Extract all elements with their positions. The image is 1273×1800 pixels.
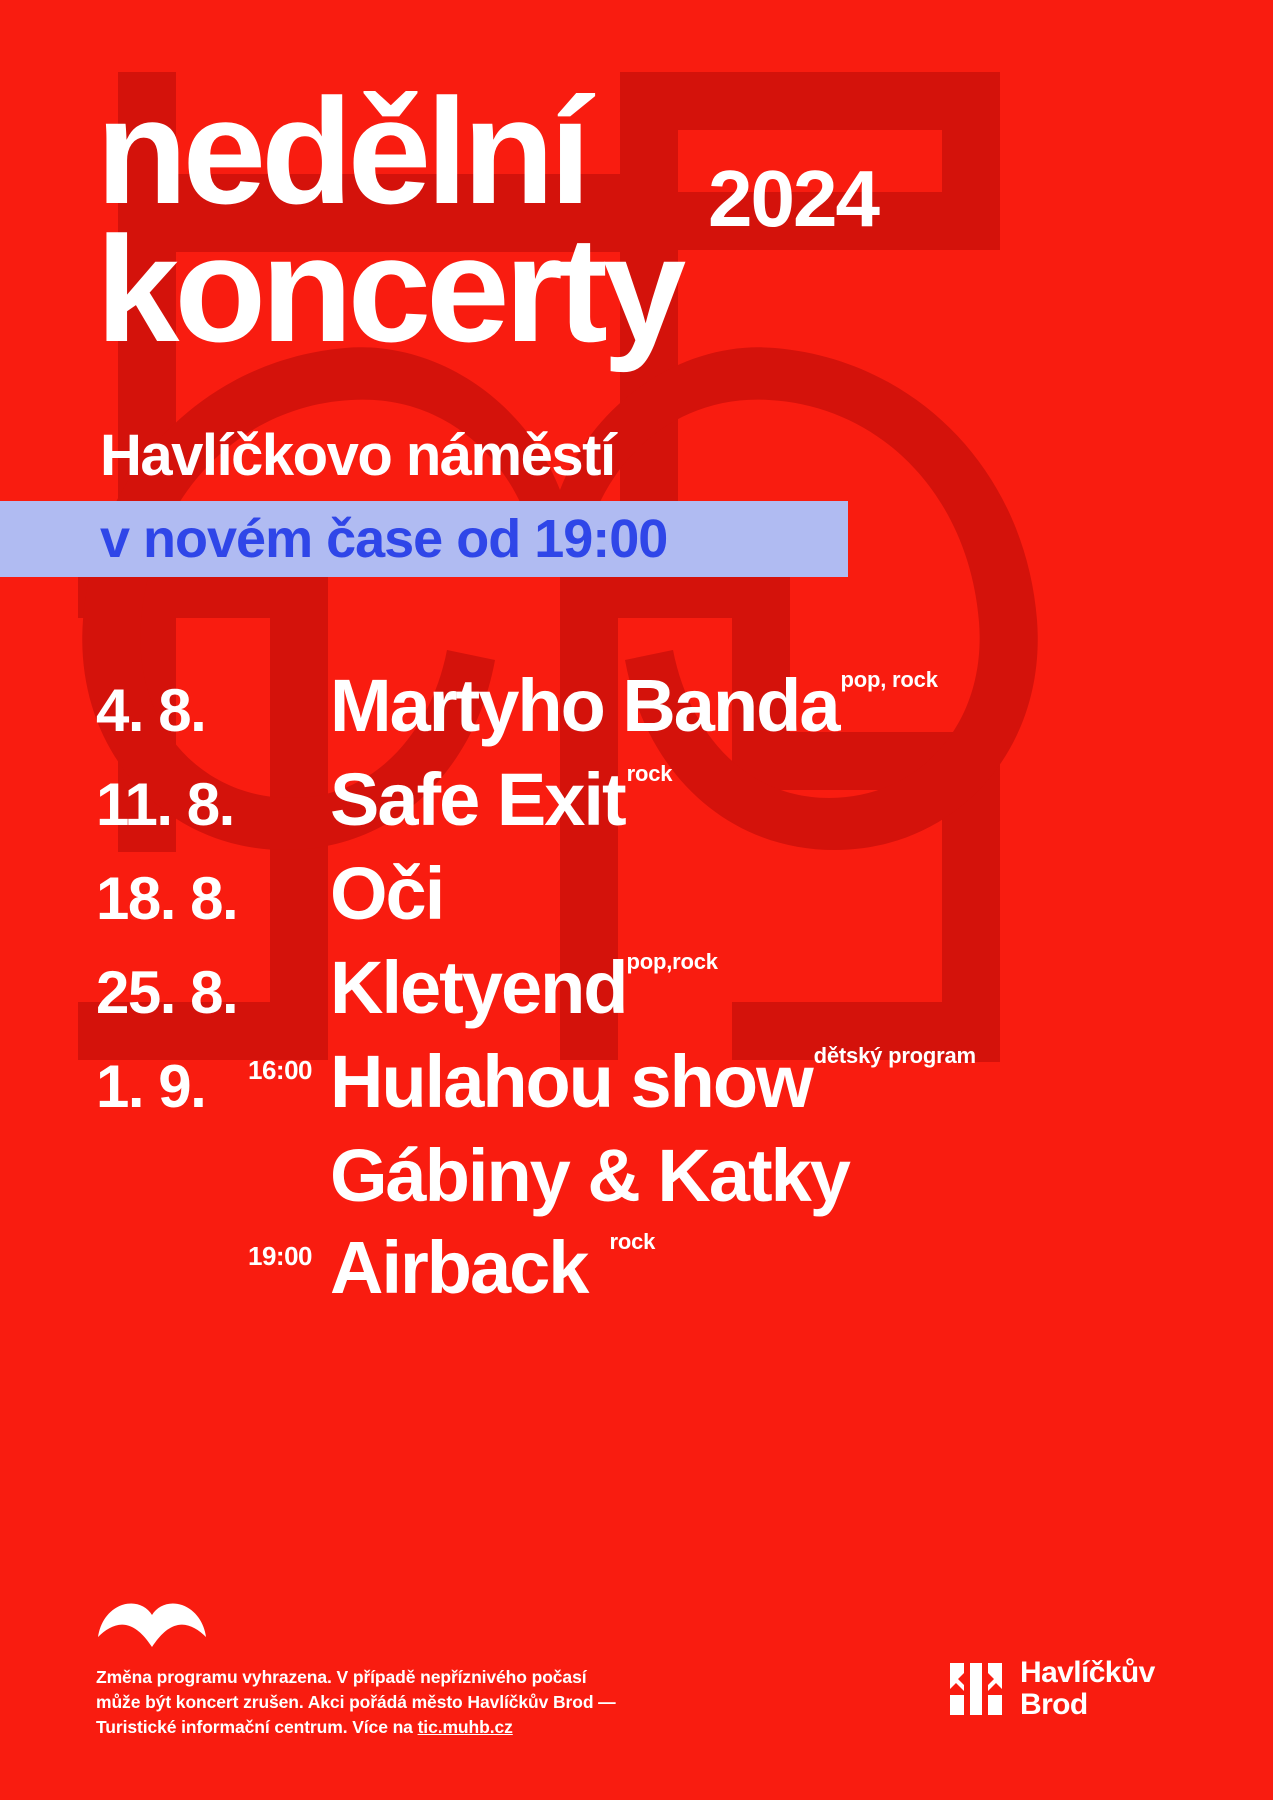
city-logo: Havlíčkův Brod [948, 1657, 1155, 1720]
city-logo-text: Havlíčkův Brod [1020, 1657, 1155, 1720]
program-act-wrap: Safe Exit rock [330, 757, 672, 842]
poster-title-line-2: koncerty [96, 205, 681, 373]
program-act: Kletyend [330, 945, 627, 1030]
time-highlight-band: v novém čase od 19:00 [0, 501, 848, 577]
program-act: Hulahou show [330, 1039, 812, 1124]
program-genre: pop,rock [627, 949, 718, 975]
program-act-wrap: Oči [330, 851, 445, 936]
program-row: 18. 8. Oči [96, 851, 1216, 945]
city-logo-line-1: Havlíčkův [1020, 1657, 1155, 1689]
program-date: 11. 8. [96, 770, 248, 839]
poster-year: 2024 [708, 162, 878, 236]
disclaimer-body: Změna programu vyhrazena. V případě nepř… [96, 1667, 616, 1737]
program-act: Safe Exit [330, 757, 625, 842]
program-time: 16:00 [248, 1055, 330, 1086]
footer-mustache-icon [98, 1603, 206, 1649]
program-date: 18. 8. [96, 864, 248, 933]
program-act: Gábiny & Katky [330, 1133, 849, 1218]
program-time: 19:00 [248, 1241, 330, 1272]
poster-title-line-2-wrap: koncerty 2024 [96, 220, 1186, 358]
poster: nedělní koncerty 2024 Havlíčkovo náměstí… [0, 0, 1273, 1800]
program-act-wrap: Hulahou show dětský program [330, 1039, 976, 1124]
program-act-wrap: Kletyend pop,rock [330, 945, 718, 1030]
program-row: 1. 9. 16:00 Hulahou show dětský program [96, 1039, 1216, 1133]
program-act: Martyho Banda [330, 663, 839, 748]
havlickuv-brod-h-monogram-icon [948, 1661, 1004, 1717]
program-list: 4. 8. Martyho Banda pop, rock 11. 8. Saf… [96, 663, 1216, 1319]
poster-title-line-1: nedělní [96, 82, 1186, 220]
program-genre: pop, rock [841, 667, 938, 693]
program-row: 19:00 Airback rock [96, 1225, 1216, 1319]
program-row: 4. 8. Martyho Banda pop, rock [96, 663, 1216, 757]
program-genre: rock [627, 761, 673, 787]
program-act-wrap: Gábiny & Katky [330, 1133, 851, 1218]
program-date: 25. 8. [96, 958, 248, 1027]
program-act: Airback [330, 1225, 587, 1310]
program-row: 11. 8. Safe Exit rock [96, 757, 1216, 851]
website-link[interactable]: tic.muhb.cz [418, 1717, 513, 1737]
program-row: Gábiny & Katky [96, 1133, 1216, 1225]
disclaimer-text: Změna programu vyhrazena. V případě nepř… [96, 1665, 616, 1740]
city-logo-line-2: Brod [1020, 1689, 1155, 1721]
program-date: 1. 9. [96, 1052, 248, 1121]
venue-label: Havlíčkovo náměstí [100, 422, 615, 489]
program-act: Oči [330, 851, 443, 936]
program-genre: rock [609, 1229, 655, 1255]
program-act-wrap: Airback rock [330, 1225, 655, 1310]
program-genre: dětský program [814, 1043, 976, 1069]
title-block: nedělní koncerty 2024 [96, 82, 1186, 358]
program-row: 25. 8. Kletyend pop,rock [96, 945, 1216, 1039]
time-note-text: v novém čase od 19:00 [100, 508, 667, 570]
program-date: 4. 8. [96, 676, 248, 745]
program-act-wrap: Martyho Banda pop, rock [330, 663, 938, 748]
